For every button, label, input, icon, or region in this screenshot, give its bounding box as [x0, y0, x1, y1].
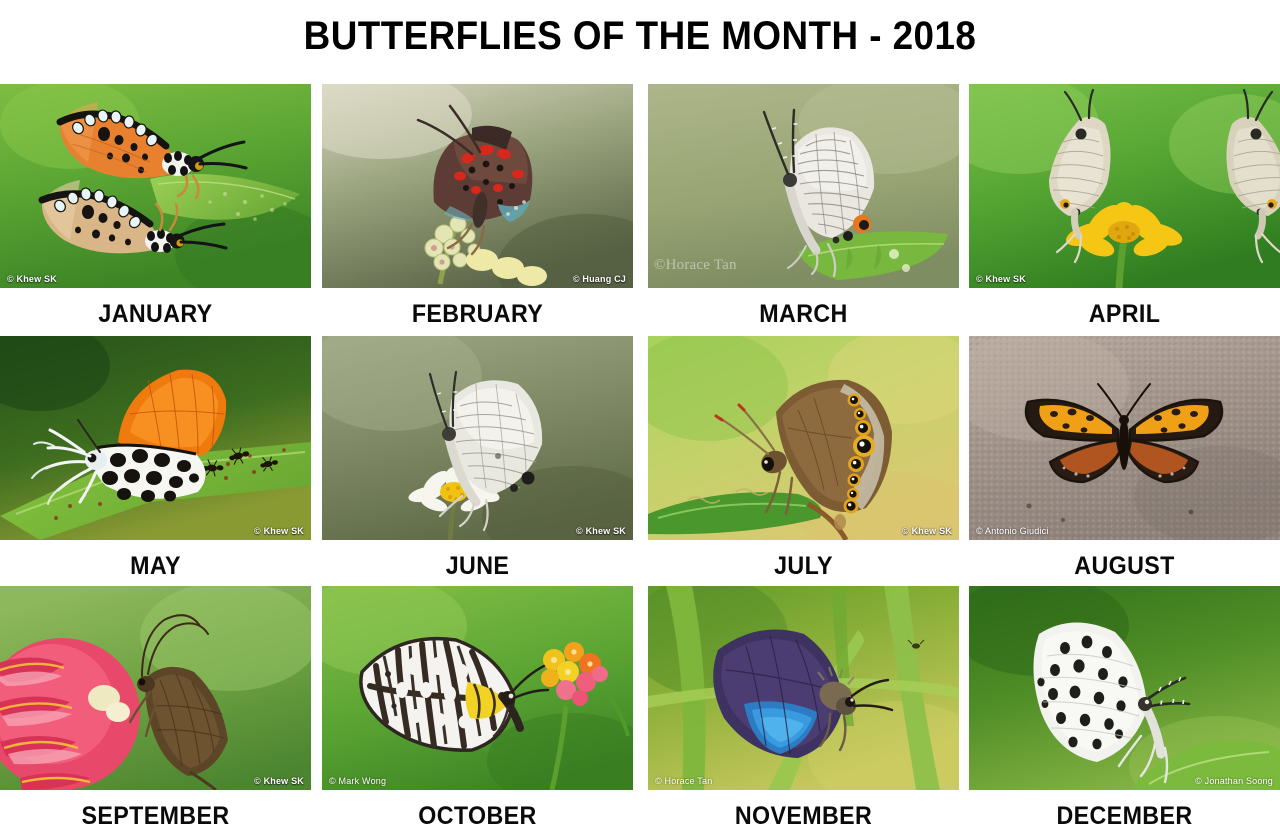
month-cell-september[interactable]: © Khew SK SEPTEMBER [0, 586, 311, 831]
photo-january[interactable]: © Khew SK [0, 84, 311, 288]
month-label-september: SEPTEMBER [11, 802, 300, 831]
month-cell-july[interactable]: © Khew SK JULY [648, 336, 959, 581]
butterfly-illustration-july [648, 336, 959, 540]
butterfly-illustration-december [969, 586, 1280, 790]
month-label-august: AUGUST [980, 552, 1269, 581]
photo-november[interactable]: © Horace Tan [648, 586, 959, 790]
photo-march[interactable]: ©Horace Tan [648, 84, 959, 288]
page-title: BUTTERFLIES OF THE MONTH - 2018 [51, 14, 1229, 59]
month-cell-june[interactable]: © Khew SK JUNE [322, 336, 633, 581]
month-cell-april[interactable]: © Khew SK APRIL [969, 84, 1280, 329]
photo-september[interactable]: © Khew SK [0, 586, 311, 790]
photo-april[interactable]: © Khew SK [969, 84, 1280, 288]
month-label-december: DECEMBER [980, 802, 1269, 831]
month-label-november: NOVEMBER [659, 802, 948, 831]
photo-june[interactable]: © Khew SK [322, 336, 633, 540]
month-cell-november[interactable]: © Horace Tan NOVEMBER [648, 586, 959, 831]
butterfly-illustration-april [969, 84, 1280, 288]
month-label-february: FEBRUARY [333, 300, 622, 329]
poster-root: BUTTERFLIES OF THE MONTH - 2018 [0, 0, 1280, 839]
butterfly-illustration-august [969, 336, 1280, 540]
photo-july[interactable]: © Khew SK [648, 336, 959, 540]
butterfly-illustration-june [322, 336, 633, 540]
month-cell-february[interactable]: © Huang CJ FEBRUARY [322, 84, 633, 329]
photo-december[interactable]: © Jonathan Soong [969, 586, 1280, 790]
butterfly-illustration-october [322, 586, 633, 790]
month-label-april: APRIL [980, 300, 1269, 329]
butterfly-illustration-september [0, 586, 311, 790]
month-cell-august[interactable]: © Antonio Giudici AUGUST [969, 336, 1280, 581]
month-cell-january[interactable]: © Khew SK JANUARY [0, 84, 311, 329]
photo-october[interactable]: © Mark Wong [322, 586, 633, 790]
butterfly-illustration-november [648, 586, 959, 790]
photo-may[interactable]: © Khew SK [0, 336, 311, 540]
month-cell-march[interactable]: ©Horace Tan MARCH [648, 84, 959, 329]
photo-february[interactable]: © Huang CJ [322, 84, 633, 288]
month-label-may: MAY [11, 552, 300, 581]
month-label-march: MARCH [659, 300, 948, 329]
month-label-june: JUNE [333, 552, 622, 581]
month-label-october: OCTOBER [333, 802, 622, 831]
butterfly-illustration-march [648, 84, 959, 288]
photo-august[interactable]: © Antonio Giudici [969, 336, 1280, 540]
month-label-july: JULY [659, 552, 948, 581]
month-cell-december[interactable]: © Jonathan Soong DECEMBER [969, 586, 1280, 831]
month-cell-october[interactable]: © Mark Wong OCTOBER [322, 586, 633, 831]
month-cell-may[interactable]: © Khew SK MAY [0, 336, 311, 581]
butterfly-illustration-february [322, 84, 633, 288]
month-label-january: JANUARY [11, 300, 300, 329]
butterfly-illustration-may [0, 336, 311, 540]
butterfly-illustration-january [0, 84, 311, 288]
